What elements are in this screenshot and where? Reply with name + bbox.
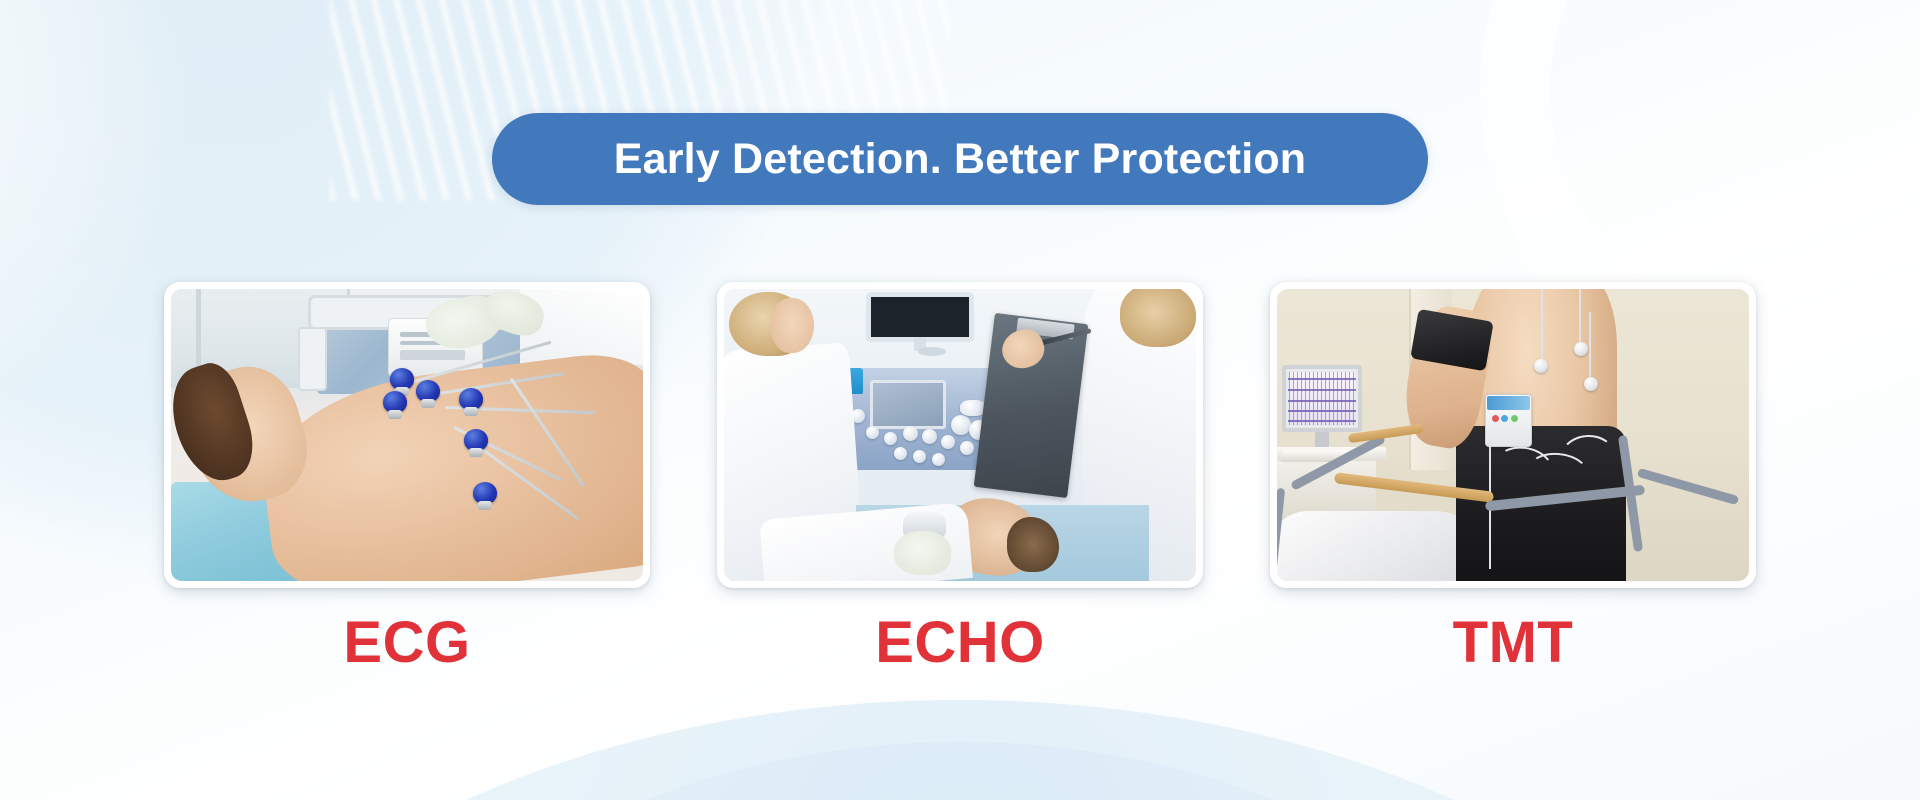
echo-photo: [724, 289, 1196, 581]
echo-photo-frame: [717, 282, 1203, 588]
ecg-photo-frame: [164, 282, 650, 588]
headline-banner: Early Detection. Better Protection: [492, 113, 1428, 205]
tmt-label: TMT: [1453, 614, 1574, 672]
ecg-electrode: [464, 429, 488, 451]
ecg-electrode: [459, 388, 483, 410]
headline-text: Early Detection. Better Protection: [614, 135, 1307, 184]
tmt-photo: [1277, 289, 1749, 581]
ecg-photo: [171, 289, 643, 581]
banner-row: Early Detection. Better Protection: [0, 113, 1920, 205]
service-card-tmt[interactable]: TMT: [1270, 282, 1756, 672]
ecg-electrode: [390, 368, 414, 390]
tmt-photo-frame: [1270, 282, 1756, 588]
service-card-ecg[interactable]: ECG: [164, 282, 650, 672]
tmt-electrode: [1584, 377, 1598, 391]
ecg-electrode: [473, 482, 497, 504]
service-card-echo[interactable]: ECHO: [717, 282, 1203, 672]
ecg-electrode: [416, 380, 440, 402]
ecg-electrode: [383, 391, 407, 413]
service-cards-row: ECG: [0, 282, 1920, 672]
ecg-label: ECG: [343, 614, 470, 672]
echo-label: ECHO: [875, 614, 1045, 672]
tmt-electrode: [1574, 342, 1588, 356]
